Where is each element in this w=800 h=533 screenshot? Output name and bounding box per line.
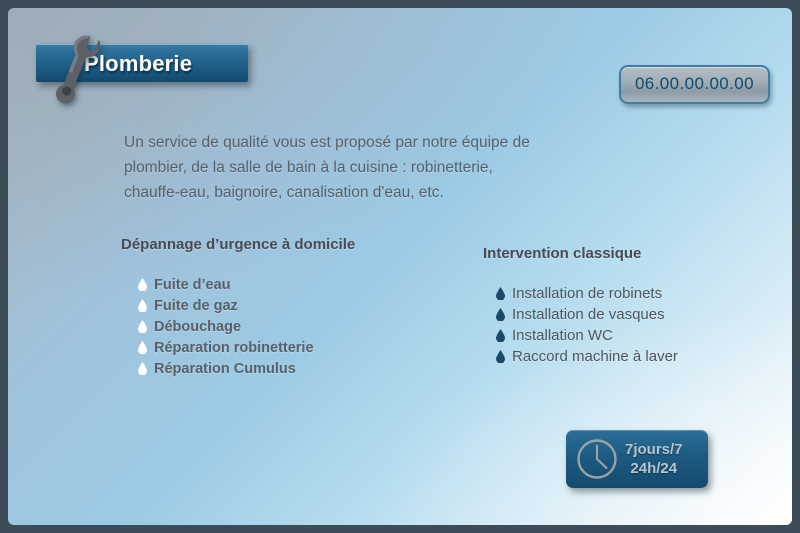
water-drop-icon [138, 278, 147, 291]
list-item: Réparation Cumulus [138, 358, 314, 379]
intro-paragraph: Un service de qualité vous est proposé p… [124, 130, 624, 205]
water-drop-icon [138, 299, 147, 312]
clock-icon [575, 437, 619, 481]
opening-hours-badge[interactable]: 7jours/7 24h/24 [566, 430, 708, 488]
list-item: Réparation robinetterie [138, 337, 314, 358]
list-item: Fuite d’eau [138, 274, 314, 295]
list-item: Installation de robinets [496, 283, 678, 304]
service-list-emergency: Fuite d’eau Fuite de gaz Débouchage [138, 274, 314, 379]
water-drop-icon [138, 362, 147, 375]
service-list-standard: Installation de robinets Installation de… [496, 283, 678, 367]
water-drop-icon [496, 329, 505, 342]
list-item: Installation WC [496, 325, 678, 346]
list-item-label: Installation de robinets [512, 285, 662, 302]
list-item-label: Débouchage [154, 319, 241, 335]
list-item-label: Installation de vasques [512, 306, 665, 323]
hours-days: 7jours/7 [625, 440, 683, 459]
content-layer: Plomberie 06.00.00.00.00 Un service de q… [8, 8, 792, 525]
water-drop-icon [496, 287, 505, 300]
intro-line-1: Un service de qualité vous est proposé p… [124, 130, 624, 155]
water-drop-icon [496, 350, 505, 363]
list-item: Débouchage [138, 316, 314, 337]
list-item-label: Réparation robinetterie [154, 340, 314, 356]
list-item: Installation de vasques [496, 304, 678, 325]
water-drop-icon [138, 320, 147, 333]
list-item-label: Réparation Cumulus [154, 361, 296, 377]
water-drop-icon [496, 308, 505, 321]
list-item-label: Fuite de gaz [154, 298, 238, 314]
list-item-label: Fuite d’eau [154, 277, 231, 293]
opening-hours-text: 7jours/7 24h/24 [625, 440, 683, 478]
list-item-label: Raccord machine à laver [512, 348, 678, 365]
intro-line-3: chauffe-eau, baignoire, canalisation d'e… [124, 180, 624, 205]
wrench-icon [48, 30, 108, 108]
hours-time: 24h/24 [625, 459, 683, 478]
list-item: Fuite de gaz [138, 295, 314, 316]
phone-number-badge[interactable]: 06.00.00.00.00 [619, 65, 770, 104]
list-item-label: Installation WC [512, 327, 613, 344]
intro-line-2: plombier, de la salle de bain à la cuisi… [124, 155, 624, 180]
content-panel: Plomberie 06.00.00.00.00 Un service de q… [8, 8, 792, 525]
page-root: Plomberie 06.00.00.00.00 Un service de q… [0, 0, 800, 533]
section-heading-standard: Intervention classique [483, 245, 641, 262]
water-drop-icon [138, 341, 147, 354]
list-item: Raccord machine à laver [496, 346, 678, 367]
section-heading-emergency: Dépannage d’urgence à domicile [121, 236, 355, 253]
